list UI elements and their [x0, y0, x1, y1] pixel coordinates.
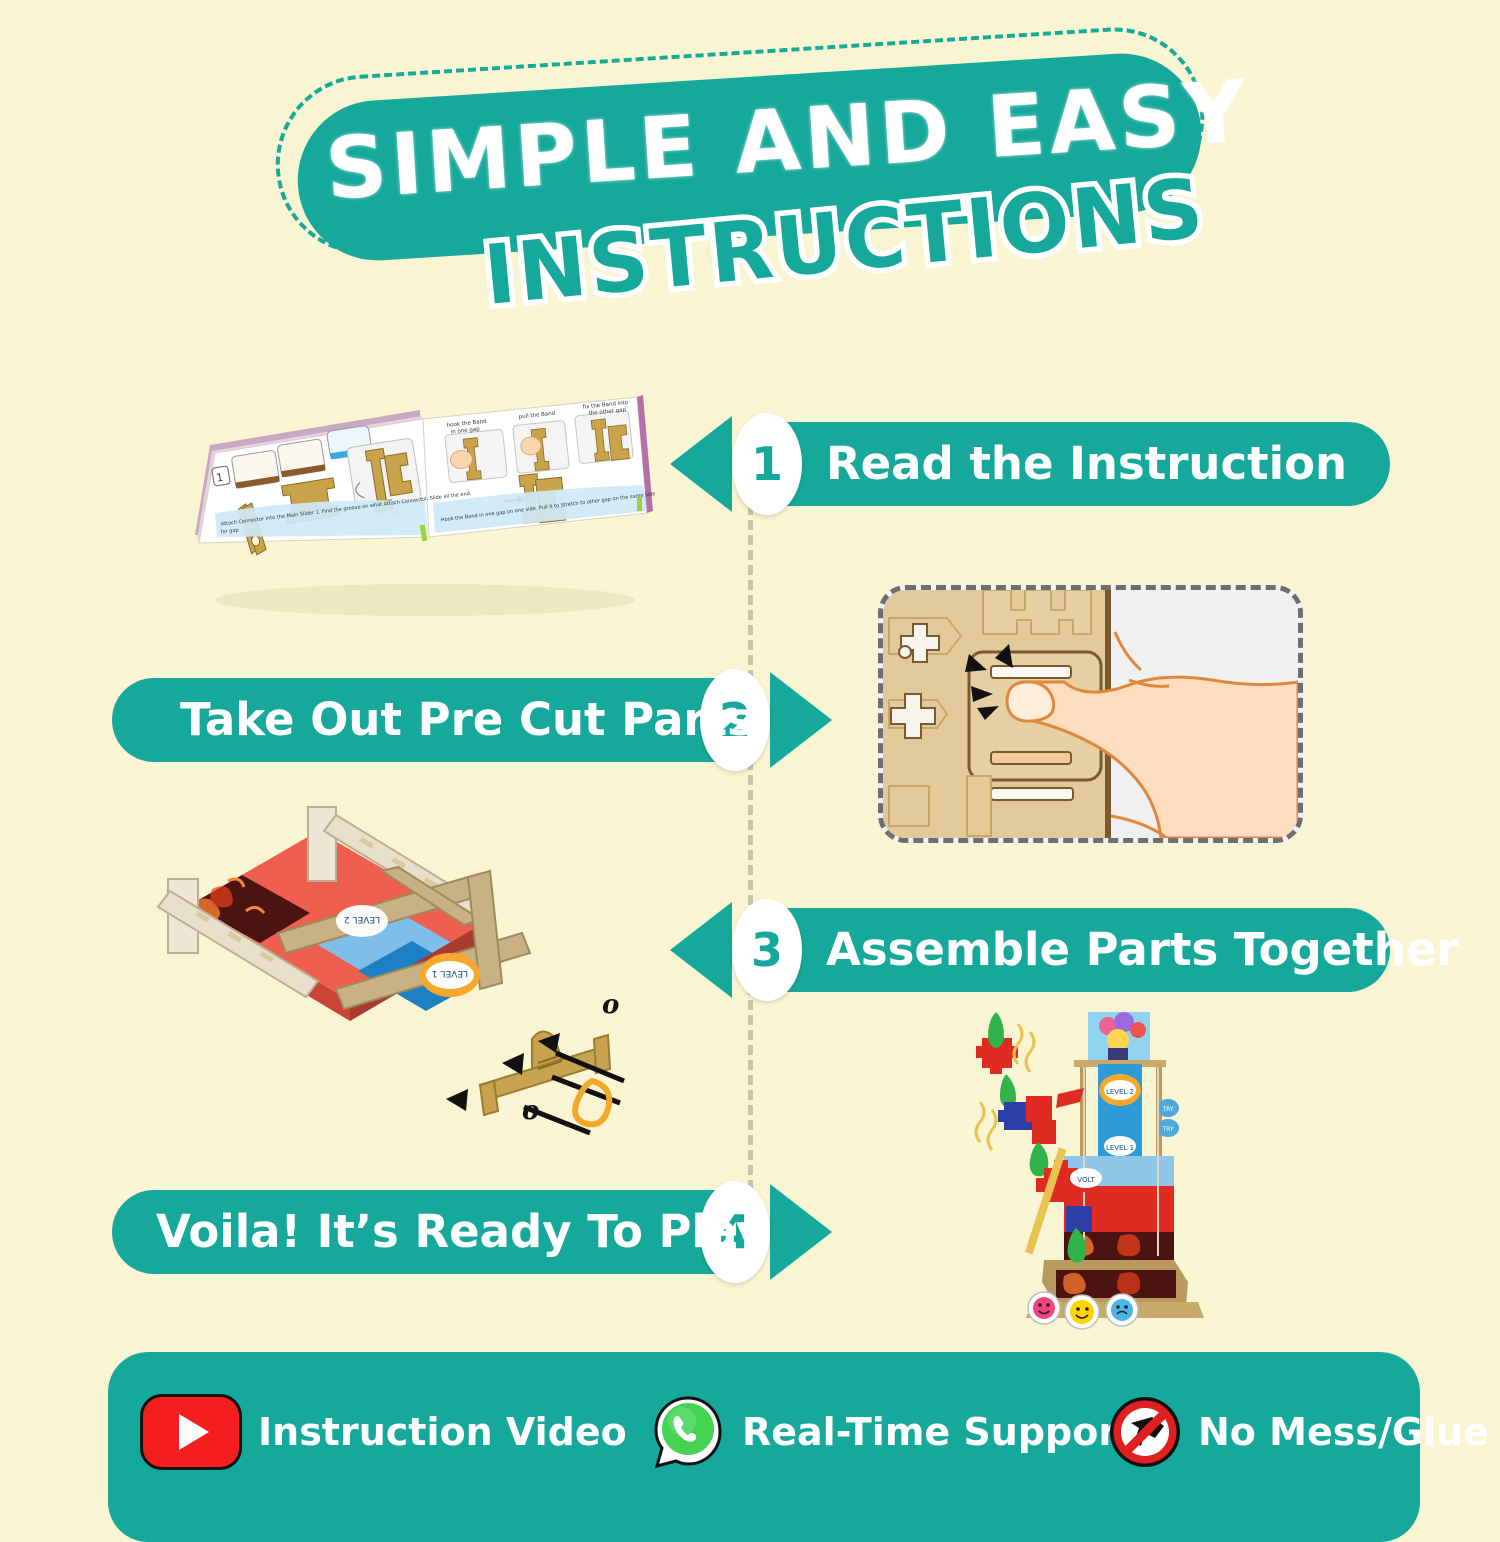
- whatsapp-icon: [650, 1394, 726, 1470]
- title-block: SIMPLE AND EASY INSTRUCTIONS: [265, 45, 1245, 315]
- no-glue-icon: [1108, 1395, 1182, 1469]
- svg-text:VOLT: VOLT: [1077, 1176, 1095, 1184]
- svg-text:LEVEL 2: LEVEL 2: [344, 914, 380, 924]
- arrow-right-icon: [770, 672, 832, 768]
- infographic-canvas: SIMPLE AND EASY INSTRUCTIONS 1 Read the …: [0, 0, 1500, 1500]
- footer-item-instruction-video[interactable]: Instruction Video: [140, 1386, 627, 1478]
- step-number-badge: 3: [732, 899, 802, 1001]
- step-label: Read the Instruction: [826, 422, 1347, 506]
- precut-parts-image: [878, 585, 1303, 843]
- assembly-exploded-image: LEVEL 2 LEVEL 1: [150, 785, 630, 1135]
- youtube-icon: [140, 1394, 242, 1470]
- arrow-left-icon: [670, 902, 732, 998]
- footer-label-no-mess-glue: No Mess/Glue: [1198, 1410, 1489, 1454]
- arrow-right-icon: [770, 1184, 832, 1280]
- step-label: Take Out Pre Cut Parts: [180, 678, 754, 762]
- footer-item-no-mess-glue[interactable]: No Mess/Glue: [1108, 1386, 1489, 1478]
- step-banner-2[interactable]: 2 Take Out Pre Cut Parts: [112, 678, 842, 762]
- step-number-badge: 1: [732, 413, 802, 515]
- step-banner-4[interactable]: 4 Voila! It’s Ready To Play: [112, 1190, 842, 1274]
- svg-text:o: o: [602, 990, 619, 1020]
- svg-text:TRY: TRY: [1161, 1126, 1173, 1133]
- footer-item-real-time-support[interactable]: Real-Time Support: [650, 1386, 1135, 1478]
- finished-toy-image: LEVEL 2 LEVEL 1 TRY TRY: [960, 1010, 1245, 1330]
- instruction-booklet-image: 1: [185, 385, 655, 620]
- svg-text:o: o: [522, 1096, 539, 1126]
- footer-bar: Instruction Video Real-Time Support: [108, 1352, 1420, 1542]
- step-label: Voila! It’s Ready To Play: [156, 1190, 765, 1274]
- footer-label-instruction-video: Instruction Video: [258, 1410, 627, 1454]
- step-connector-line: [748, 490, 753, 1250]
- step-label: Assemble Parts Together: [826, 908, 1459, 992]
- step-banner-1[interactable]: 1 Read the Instruction: [660, 422, 1390, 506]
- footer-items: Instruction Video Real-Time Support: [108, 1386, 1420, 1478]
- svg-text:TRY: TRY: [1161, 1106, 1173, 1113]
- svg-text:LEVEL 2: LEVEL 2: [1106, 1088, 1134, 1096]
- svg-text:LEVEL 1: LEVEL 1: [1106, 1144, 1134, 1152]
- footer-label-real-time-support: Real-Time Support: [742, 1410, 1135, 1454]
- svg-text:LEVEL 1: LEVEL 1: [432, 968, 468, 978]
- arrow-left-icon: [670, 416, 732, 512]
- step-banner-3[interactable]: 3 Assemble Parts Together: [660, 908, 1390, 992]
